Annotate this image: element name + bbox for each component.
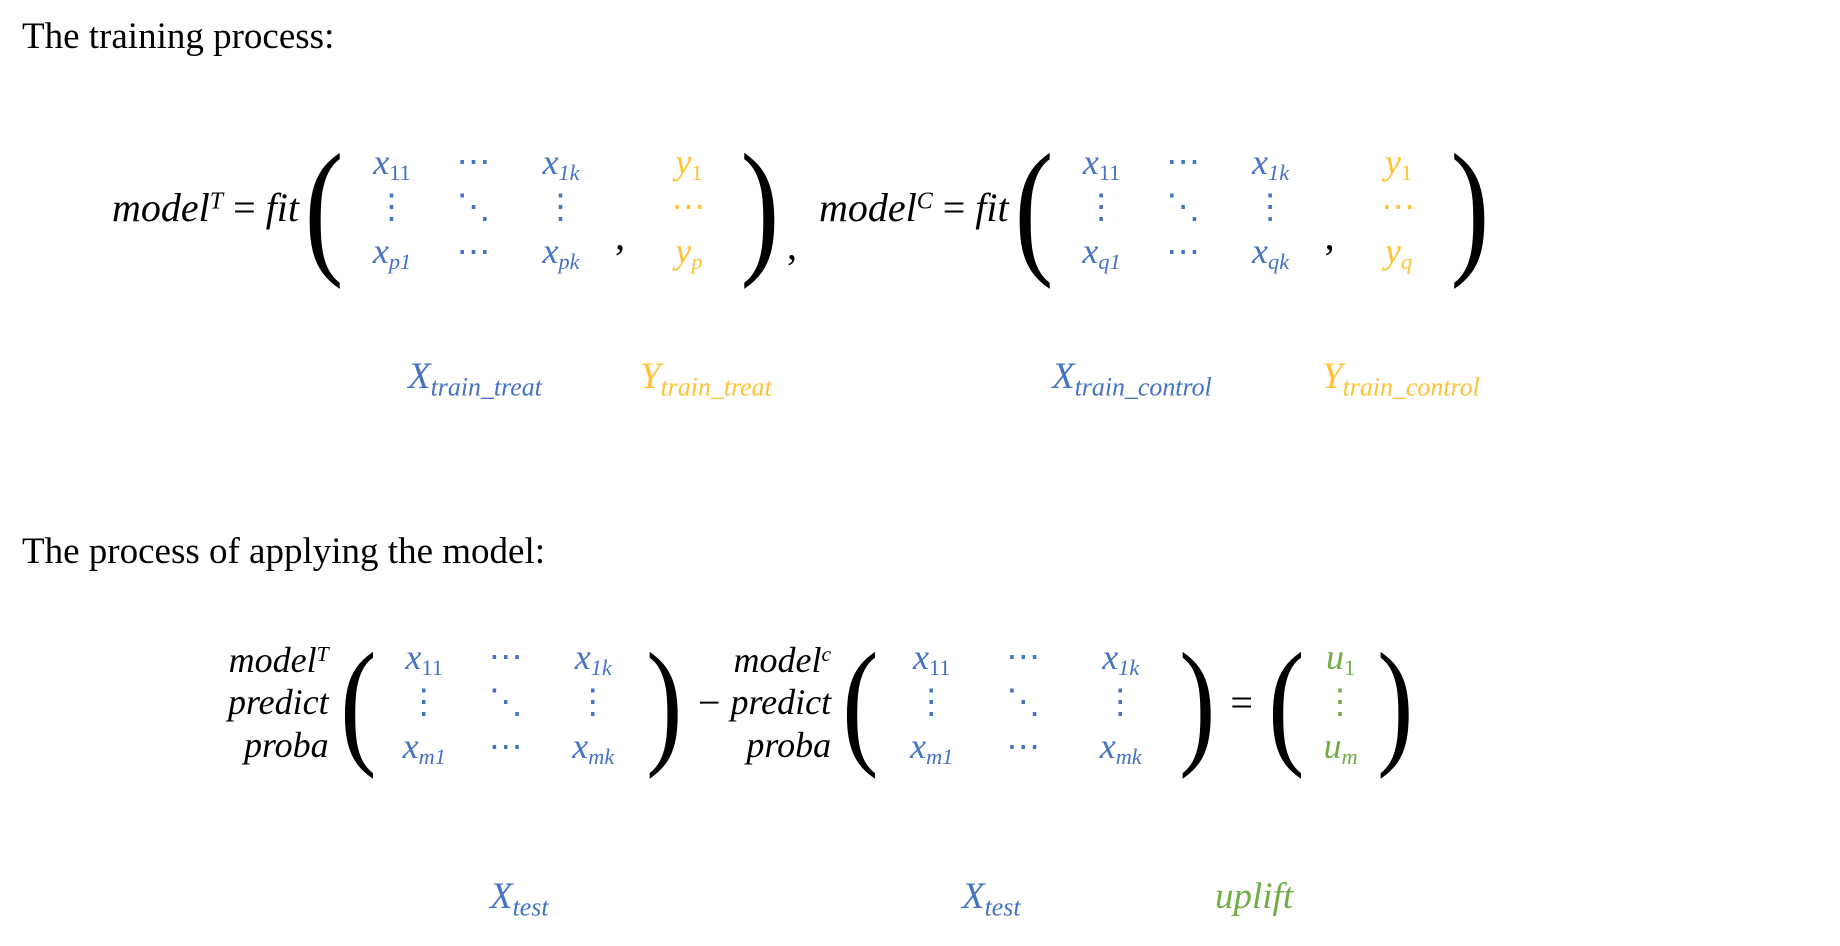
matrix-cell: ⋮ [374,186,409,230]
matrix-cell-subscript: p1 [389,249,411,274]
vector-cell: y1 [675,140,702,186]
matrix-cell-base: x [913,637,929,677]
label-base: X [408,356,431,397]
operator-line-predict: predict [730,681,831,723]
matrix-cell-base: x [1252,231,1268,271]
treatment-fit-arguments: ( x11 ⋯ x1k ⋮ ⋱ ⋮ xp1 ⋯ xpk , y1 ⋯ yp ) [299,140,785,275]
matrix-cell-subscript: m1 [419,744,446,769]
treatment-model-label: modelT [112,184,223,231]
matrix-cell: ⋮ [543,186,578,230]
vector-cell: ⋯ [671,186,706,230]
close-paren-uplift: ) [1377,635,1413,770]
vector-cell-subscript: q [1401,249,1412,274]
matrix-cell: xqk [1252,229,1289,275]
equation-separator-comma: , [785,222,819,269]
matrix-cell: ⋮ [1253,186,1288,230]
vector-cell-subscript: 1 [691,160,702,185]
matrix-cell: ⋯ [1166,231,1201,275]
matrix-cell-subscript: 11 [422,655,443,680]
close-paren-apply-control: ) [1179,635,1215,770]
matrix-cell-base: x [1100,726,1116,766]
matrix-cell: ⋱ [1006,681,1041,725]
matrix-cell: xmk [572,724,614,770]
vector-cell-base: u [1326,637,1344,677]
vector-cell: ⋯ [1381,186,1416,230]
label-base: X [490,876,513,917]
matrix-cell: ⋯ [456,231,491,275]
matrix-cell-subscript: 11 [929,655,950,680]
control-model-superscript: C [917,189,933,215]
fit-argument-separator-control: , [1319,212,1353,275]
treatment-model-superscript: T [210,189,223,215]
matrix-cell: ⋮ [407,681,442,725]
matrix-cell-base: x [542,231,558,271]
matrix-cell: xpk [542,229,579,275]
operator-model-base: model [734,640,822,680]
matrix-cell-base: x [910,726,926,766]
operator-line-model: modelT [229,639,329,681]
matrix-cell-base: x [575,637,591,677]
vector-cell: u1 [1326,635,1355,681]
operator-line-proba: proba [746,724,831,766]
label-x-test-control: Xtest [962,875,1021,918]
vector-cell-subscript: m [1341,744,1357,769]
vector-cell-base: y [675,142,691,182]
matrix-cell: ⋱ [489,681,524,725]
matrix-cell: x1k [1252,140,1289,186]
matrix-cell: x11 [913,635,950,681]
matrix-cell-subscript: mk [1116,744,1142,769]
operator-model-base: model [229,640,317,680]
matrix-cell: x1k [1102,635,1139,681]
matrix-cell: x11 [406,635,443,681]
operator-line-proba: proba [244,724,329,766]
uplift-vector-group: ( u1 ⋮ um ) [1263,635,1418,770]
matrix-cell-subscript: pk [558,249,579,274]
label-base: X [1052,356,1075,397]
equals-sign-treatment: = [223,184,266,231]
vector-cell: y1 [1385,140,1412,186]
open-paren-treatment: ( [305,140,344,275]
label-subscript: test [985,892,1021,921]
matrix-cell-subscript: 1k [1268,160,1289,185]
matrix-cell: x11 [1083,140,1120,186]
fit-argument-separator-treatment: , [609,212,643,275]
matrix-cell: ⋯ [489,726,524,770]
training-equation-row: modelT = fit ( x11 ⋯ x1k ⋮ ⋱ ⋮ xp1 ⋯ xpk… [112,140,1495,275]
matrix-cell-subscript: mk [588,744,614,769]
vector-cell-subscript: 1 [1401,160,1412,185]
matrix-cell-base: x [1102,637,1118,677]
matrix-cell-base: x [572,726,588,766]
matrix-cell-subscript: 1k [1118,655,1139,680]
matrix-cell-base: x [406,637,422,677]
vector-cell-base: u [1323,726,1341,766]
vector-cell: yp [675,229,702,275]
operator-model-superscript: T [317,642,329,666]
matrix-cell: ⋱ [1166,186,1201,230]
matrix-cell: xm1 [403,724,446,770]
matrix-cell: ⋯ [456,141,491,185]
label-uplift: uplift [1215,875,1293,918]
vector-cell-base: y [1385,142,1401,182]
control-target-vector: y1 ⋯ yq [1353,140,1445,275]
open-paren-apply-control: ( [842,635,878,770]
label-subscript: train_control [1343,372,1480,401]
matrix-cell: ⋯ [1166,141,1201,185]
matrix-cell: x1k [575,635,612,681]
fit-function-treatment: fit [266,184,299,231]
matrix-cell-subscript: 11 [389,160,410,185]
label-y-train-control: Ytrain_control [1322,355,1480,398]
open-paren-apply-treatment: ( [340,635,376,770]
treatment-test-feature-matrix: x11 ⋯ x1k ⋮ ⋱ ⋮ xm1 ⋯ xmk [381,635,641,770]
matrix-cell-base: x [373,231,389,271]
matrix-cell-subscript: qk [1268,249,1289,274]
vector-cell-subscript: 1 [1344,655,1355,680]
matrix-cell-base: x [1252,142,1268,182]
operator-line-predict: predict [228,681,329,723]
matrix-cell-subscript: 11 [1099,160,1120,185]
equals-sign-apply: = [1220,679,1263,726]
vector-cell: um [1323,724,1357,770]
label-base: Y [640,356,661,397]
matrix-cell-base: x [1083,142,1099,182]
open-paren-uplift: ( [1268,635,1304,770]
close-paren-treatment: ) [740,140,779,275]
vector-cell: ⋮ [1323,681,1358,725]
matrix-cell: x11 [373,140,410,186]
matrix-cell-subscript: q1 [1098,249,1120,274]
vector-cell-subscript: p [691,249,702,274]
matrix-cell-base: x [373,142,389,182]
control-test-matrix-group: ( x11 ⋯ x1k ⋮ ⋱ ⋮ xm1 ⋯ xmk ) [837,635,1220,770]
matrix-cell-subscript: 1k [558,160,579,185]
treatment-test-matrix-group: ( x11 ⋯ x1k ⋮ ⋱ ⋮ xm1 ⋯ xmk ) [335,635,688,770]
control-test-feature-matrix: x11 ⋯ x1k ⋮ ⋱ ⋮ xm1 ⋯ xmk [884,635,1174,770]
label-subscript: train_control [1075,372,1212,401]
equals-sign-control: = [933,184,976,231]
matrix-cell-subscript: m1 [926,744,953,769]
matrix-cell: ⋱ [456,186,491,230]
control-predict-proba-operator: modelc predict proba [730,639,837,766]
matrix-cell: xp1 [373,229,411,275]
close-paren-apply-treatment: ) [646,635,682,770]
label-x-test-treatment: Xtest [490,875,549,918]
matrix-cell: ⋯ [1006,636,1041,680]
label-subscript: test [513,892,549,921]
label-x-train-treat: Xtrain_treat [408,355,542,398]
apply-equation-row: modelT predict proba ( x11 ⋯ x1k ⋮ ⋱ ⋮ x… [228,635,1418,770]
vector-cell-base: y [1385,231,1401,271]
control-model-label: modelC [819,184,933,231]
close-paren-control: ) [1450,140,1489,275]
matrix-cell-base: x [542,142,558,182]
label-subscript: train_treat [661,372,772,401]
label-y-train-treat: Ytrain_treat [640,355,772,398]
matrix-cell-subscript: 1k [591,655,612,680]
label-subscript: train_treat [431,372,542,401]
treatment-target-vector: y1 ⋯ yp [643,140,735,275]
label-x-train-control: Xtrain_control [1052,355,1212,398]
matrix-cell: ⋯ [1006,726,1041,770]
matrix-cell: xmk [1100,724,1142,770]
vector-cell: yq [1385,229,1412,275]
control-model-base: model [819,185,917,230]
operator-line-model: modelc [734,639,832,681]
matrix-cell: x1k [542,140,579,186]
matrix-cell: xm1 [910,724,953,770]
treatment-feature-matrix: x11 ⋯ x1k ⋮ ⋱ ⋮ xp1 ⋯ xpk [349,140,609,275]
minus-sign: − [688,679,731,726]
uplift-vector: u1 ⋮ um [1310,635,1372,770]
matrix-cell-base: x [1082,231,1098,271]
operator-model-superscript: c [822,642,832,666]
matrix-cell-base: x [403,726,419,766]
open-paren-control: ( [1014,140,1053,275]
label-base: X [962,876,985,917]
page-title-training-process: The training process: [22,18,334,55]
matrix-cell: ⋮ [914,681,949,725]
treatment-predict-proba-operator: modelT predict proba [228,639,335,766]
matrix-cell: ⋮ [1084,186,1119,230]
fit-function-control: fit [975,184,1008,231]
page-title-applying-model: The process of applying the model: [22,533,545,570]
control-fit-arguments: ( x11 ⋯ x1k ⋮ ⋱ ⋮ xq1 ⋯ xqk , y1 ⋯ yq ) [1009,140,1495,275]
treatment-model-base: model [112,185,210,230]
vector-cell-base: y [675,231,691,271]
matrix-cell: ⋮ [1103,681,1138,725]
control-feature-matrix: x11 ⋯ x1k ⋮ ⋱ ⋮ xq1 ⋯ xqk [1059,140,1319,275]
matrix-cell: xq1 [1082,229,1120,275]
label-base: Y [1322,356,1343,397]
matrix-cell: ⋯ [489,636,524,680]
matrix-cell: ⋮ [576,681,611,725]
